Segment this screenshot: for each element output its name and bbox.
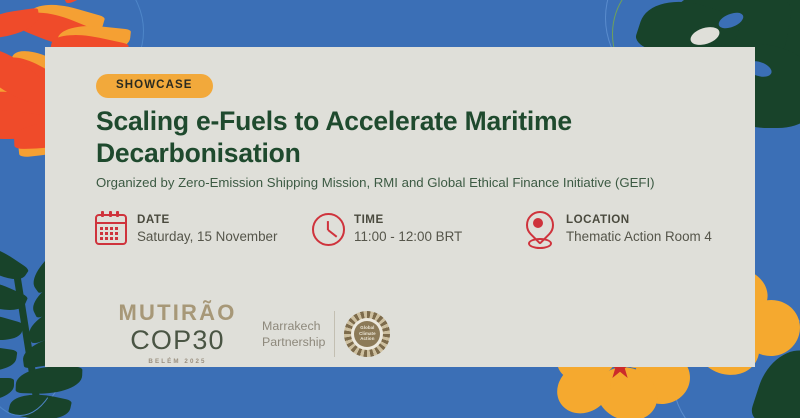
- marrakech-partnership-text: Marrakech Partnership: [262, 318, 325, 350]
- meta-value-time: 11:00 - 12:00 BRT: [354, 228, 462, 246]
- marrakech-partnership-logo: Marrakech Partnership Global Climate Act…: [262, 311, 390, 357]
- cop30-belem-text: BELÉM 2025: [115, 358, 240, 365]
- meta-label-time: TIME: [354, 213, 462, 226]
- green-leaf-bottomright-accent: [749, 341, 800, 418]
- logo-divider: [334, 311, 335, 357]
- global-climate-action-emblem: Global Climate Action: [344, 311, 390, 357]
- event-organizer: Organized by Zero-Emission Shipping Miss…: [96, 174, 756, 191]
- location-pin-icon: [522, 210, 556, 248]
- meta-value-location: Thematic Action Room 4: [566, 228, 712, 246]
- marrakech-line-2: Partnership: [262, 334, 325, 350]
- event-meta-row: DATE Saturday, 15 November TIME 11:0: [93, 210, 743, 262]
- meta-label-date: DATE: [137, 213, 277, 226]
- meta-item-time: TIME 11:00 - 12:00 BRT: [310, 210, 462, 248]
- cop30-mutirao-text: MUTIRÃO: [115, 302, 240, 324]
- meta-item-date: DATE Saturday, 15 November: [93, 210, 277, 248]
- emblem-line-3: Action: [360, 336, 374, 342]
- calendar-icon: [93, 210, 127, 248]
- meta-value-date: Saturday, 15 November: [137, 228, 277, 246]
- showcase-badge: SHOWCASE: [96, 74, 213, 98]
- meta-item-location: LOCATION Thematic Action Room 4: [522, 210, 712, 248]
- event-card-graphic: SHOWCASE Scaling e-Fuels to Accelerate M…: [0, 0, 800, 418]
- cop30-logo: MUTIRÃO COP30 BELÉM 2025: [115, 302, 240, 365]
- event-title: Scaling e-Fuels to Accelerate Maritime D…: [96, 105, 716, 170]
- cop30-text: COP30: [115, 326, 240, 354]
- event-info-card: SHOWCASE Scaling e-Fuels to Accelerate M…: [45, 47, 755, 367]
- meta-label-location: LOCATION: [566, 213, 712, 226]
- logo-bar: MUTIRÃO COP30 BELÉM 2025 Marrakech Partn…: [115, 302, 390, 365]
- clock-icon: [310, 210, 344, 248]
- marrakech-line-1: Marrakech: [262, 318, 325, 334]
